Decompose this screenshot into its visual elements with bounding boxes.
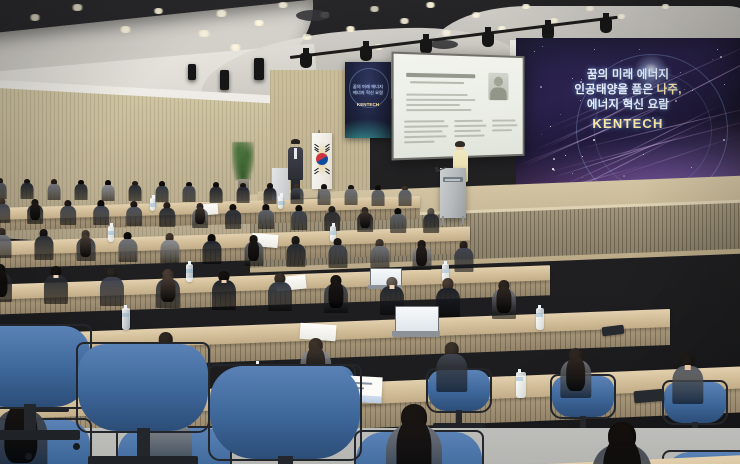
chair-frame — [76, 342, 210, 433]
attendee-torso — [48, 184, 61, 200]
attendee-person — [672, 354, 703, 407]
headline-line-1: 꿈의 미래 에너지 — [516, 68, 740, 83]
attendee-neck — [54, 275, 59, 278]
presenter-hair — [455, 141, 465, 147]
ceiling-downlight — [368, 6, 381, 12]
attendee-person — [183, 182, 196, 204]
water-bottle — [108, 226, 114, 242]
headline-line-3: 에너지 혁신 요람 — [516, 98, 740, 113]
seat-chair — [210, 366, 360, 464]
attendee-person — [454, 241, 473, 273]
attendee-torso — [291, 188, 304, 204]
slide-title-block — [406, 73, 475, 78]
attendee-person — [386, 404, 442, 464]
attendee-person — [212, 271, 236, 311]
track-spotlight — [360, 46, 372, 61]
attendee-person — [244, 235, 263, 267]
ceiling-downlight — [118, 26, 133, 33]
attendee-person — [44, 266, 68, 306]
banner-rollup-left: 꿈의 미래 에너지 에너지 혁신 요람 KENTECH — [345, 62, 391, 138]
slide-text-line — [406, 109, 471, 111]
attendee-person — [102, 180, 115, 202]
open-laptop — [392, 306, 440, 338]
headline-line-2: 인공태양을 품은 나주, — [516, 83, 740, 98]
attendee-person — [48, 179, 61, 201]
attendee-person — [34, 229, 53, 261]
attendee-torso — [21, 183, 34, 199]
laptop-screen — [395, 306, 439, 333]
attendee-torso — [102, 185, 115, 201]
attendee-neck — [390, 285, 395, 288]
attendee-person — [118, 232, 137, 264]
attendee-person — [76, 230, 95, 262]
slide-text-line — [404, 135, 446, 137]
attendee-torso — [212, 280, 236, 309]
chair-base — [88, 456, 197, 464]
ceiling-loudspeaker — [188, 64, 196, 80]
attendee-torso — [399, 190, 412, 206]
attendee-long-hair — [416, 245, 428, 266]
led-star — [594, 49, 595, 50]
attendee-torso — [328, 245, 347, 268]
led-star — [621, 60, 622, 61]
seat-chair — [78, 344, 208, 464]
ceiling-loudspeaker — [254, 58, 264, 80]
attendee-long-hair — [566, 356, 586, 391]
attendee-torso — [390, 214, 406, 233]
attendee-torso — [372, 190, 385, 206]
attendee-torso — [129, 185, 142, 201]
attendee-person — [328, 238, 347, 270]
audience-seating-area — [0, 176, 740, 464]
attendee-long-hair — [496, 286, 511, 313]
attendee-long-hair — [80, 235, 92, 256]
slide-text-line — [492, 124, 517, 126]
slide-text-line — [404, 120, 444, 122]
slide-text-line — [454, 135, 484, 137]
attendee-torso — [286, 244, 305, 267]
track-spotlight — [482, 32, 494, 47]
attendee-person — [0, 228, 11, 260]
attendee-torso — [423, 214, 439, 233]
attendee-torso — [258, 210, 274, 229]
water-bottle — [516, 372, 526, 398]
attendee-torso — [159, 208, 175, 227]
attendee-person — [436, 342, 467, 395]
attendee-torso — [237, 187, 250, 203]
ceiling-downlight — [398, 18, 411, 24]
attendee-person — [286, 236, 305, 268]
chair-post — [456, 410, 462, 425]
attendee-person — [357, 207, 373, 233]
attendee-person — [370, 239, 389, 271]
led-star — [639, 49, 640, 50]
attendee-torso — [60, 206, 76, 225]
attendee-long-hair — [195, 207, 205, 225]
attendee-torso — [75, 184, 88, 200]
attendee-torso — [291, 211, 307, 230]
slide-text-line — [404, 141, 434, 143]
slide-text-line — [492, 119, 516, 121]
attendee-neck — [222, 280, 227, 283]
attendee-person — [0, 178, 7, 200]
attendee-torso — [268, 282, 292, 311]
ceiling-downlight — [660, 4, 671, 9]
track-spotlight — [300, 53, 312, 68]
ceiling-loudspeaker — [220, 70, 229, 90]
attendee-person — [318, 184, 331, 206]
led-star — [720, 56, 722, 58]
water-bottle — [278, 196, 283, 209]
water-bottle — [186, 264, 193, 282]
attendee-torso — [160, 240, 179, 263]
led-star — [552, 168, 554, 170]
attendee-long-hair — [396, 418, 431, 464]
attendee-person — [21, 179, 34, 201]
attendee-person — [345, 185, 358, 207]
water-bottle — [122, 308, 130, 330]
chair-base — [0, 430, 80, 440]
attendee-person — [268, 273, 292, 313]
slide-portrait-photo — [488, 73, 508, 101]
ceiling-air-diffuser — [430, 40, 458, 49]
attendee-torso — [100, 277, 124, 306]
attendee-person — [159, 202, 175, 228]
attendee-torso — [225, 210, 241, 229]
kentech-brand-label: KENTECH — [516, 116, 740, 131]
attendee-long-hair — [360, 211, 370, 229]
headline-line-2a: 인공태양을 품은 — [574, 84, 656, 96]
attendee-person — [202, 234, 221, 266]
attendee-torso — [318, 189, 331, 205]
podium-microphone — [436, 163, 448, 172]
attendee-long-hair — [328, 281, 343, 308]
slide-text-line — [454, 130, 481, 132]
attendee-person — [412, 240, 431, 272]
attendee-person — [192, 203, 208, 229]
attendee-person — [258, 204, 274, 230]
ceiling-downlight — [344, 26, 357, 32]
attendee-person — [0, 198, 10, 224]
ceiling-downlight — [70, 4, 85, 11]
attendee-person — [129, 181, 142, 203]
slide-text-line — [404, 130, 442, 132]
attendee-torso — [34, 236, 53, 259]
attendee-torso — [370, 246, 389, 269]
laptop-keyboard — [392, 331, 440, 337]
attendee-person — [100, 268, 124, 308]
slide-text-line — [404, 125, 448, 127]
attendee-torso — [93, 206, 109, 225]
led-star — [723, 139, 725, 141]
attendee-torso — [183, 186, 196, 202]
attendee-person — [210, 182, 223, 204]
attendee-person — [0, 264, 12, 304]
plant-foliage — [232, 142, 254, 180]
chair-frame — [208, 364, 362, 461]
attendee-person — [160, 233, 179, 265]
attendee-torso — [202, 241, 221, 264]
banner-wave-decor — [345, 111, 391, 138]
attendee-long-hair — [30, 203, 40, 221]
slide-subtitle-block — [410, 81, 464, 84]
ceiling-downlight — [228, 44, 243, 51]
led-star — [534, 51, 535, 52]
attendee-torso — [0, 235, 11, 258]
ceiling-downlight — [152, 8, 165, 14]
ceiling-downlight — [276, 2, 290, 8]
auditorium-photo: 꿈의 미래 에너지 에너지 혁신 요람 KENTECH 꿈의 미래 에너지 인공… — [0, 0, 740, 464]
slide-text-line — [454, 120, 483, 122]
attendee-torso — [44, 275, 68, 304]
attendee-person — [156, 269, 180, 309]
led-star — [717, 49, 718, 50]
host-hair — [291, 139, 300, 144]
taeguk-symbol — [316, 153, 328, 165]
attendee-person — [75, 180, 88, 202]
led-star — [553, 158, 555, 160]
attendee-person — [27, 199, 43, 225]
slide-text-line — [492, 129, 512, 131]
ceiling-air-diffuser — [296, 10, 330, 21]
attendee-person — [225, 204, 241, 230]
slide-text-line — [454, 125, 486, 127]
attendee-neck — [684, 365, 691, 369]
water-bottle — [150, 198, 155, 211]
attendee-person — [264, 183, 277, 205]
track-spotlight — [600, 18, 612, 33]
attendee-person — [390, 208, 406, 234]
attendee-person — [592, 422, 652, 464]
ceiling-downlight — [300, 34, 314, 40]
attendee-torso — [345, 189, 358, 205]
slide-text-line — [406, 104, 460, 106]
chair-post — [137, 428, 150, 459]
attendee-torso — [454, 248, 473, 271]
attendee-person — [237, 183, 250, 205]
attendee-long-hair — [248, 240, 260, 261]
attendee-person — [93, 200, 109, 226]
attendee-torso — [672, 366, 703, 404]
attendee-torso — [156, 186, 169, 202]
attendee-person — [423, 208, 439, 234]
attendee-torso — [0, 183, 7, 199]
attendee-person — [156, 181, 169, 203]
attendee-torso — [210, 187, 223, 203]
ceiling-downlight — [584, 6, 596, 11]
attendee-person — [60, 200, 76, 226]
banner-left-line2: 에너지 혁신 요람 — [345, 90, 391, 96]
ceiling-downlight — [252, 20, 266, 26]
attendee-person — [399, 186, 412, 208]
led-star — [582, 156, 583, 157]
led-headline-text: 꿈의 미래 에너지 인공태양을 품은 나주, 에너지 혁신 요람 KENTECH — [516, 68, 740, 131]
host-shirt — [294, 148, 297, 159]
attendee-person — [126, 201, 142, 227]
attendee-person — [324, 275, 348, 315]
ceiling-downlight — [424, 2, 437, 8]
chair-post — [24, 404, 36, 433]
attendee-person — [560, 348, 591, 401]
slide-text-line — [406, 99, 475, 101]
led-star — [712, 59, 713, 60]
ceiling-downlight — [214, 10, 229, 17]
attendee-person — [291, 184, 304, 206]
attendee-torso — [264, 188, 277, 204]
attendee-torso — [118, 239, 137, 262]
ceiling-downlight — [520, 4, 532, 9]
water-bottle — [536, 308, 544, 330]
led-star — [572, 173, 573, 174]
attendee-torso — [0, 204, 10, 223]
attendee-person — [372, 185, 385, 207]
attendee-torso — [436, 354, 467, 392]
chair-post — [278, 456, 293, 464]
slide-text-line — [406, 94, 468, 96]
attendee-torso — [126, 207, 142, 226]
attendee-long-hair — [160, 276, 175, 303]
banner-left-brand: KENTECH — [345, 102, 391, 107]
ceiling-downlight — [28, 14, 42, 21]
led-star — [593, 139, 595, 141]
attendee-person — [291, 205, 307, 231]
headline-line-2b: 나주, — [657, 84, 682, 96]
ceiling-downlight — [196, 30, 212, 37]
attendee-person — [492, 280, 516, 320]
ceiling-downlight — [470, 12, 482, 18]
led-star — [542, 46, 543, 47]
